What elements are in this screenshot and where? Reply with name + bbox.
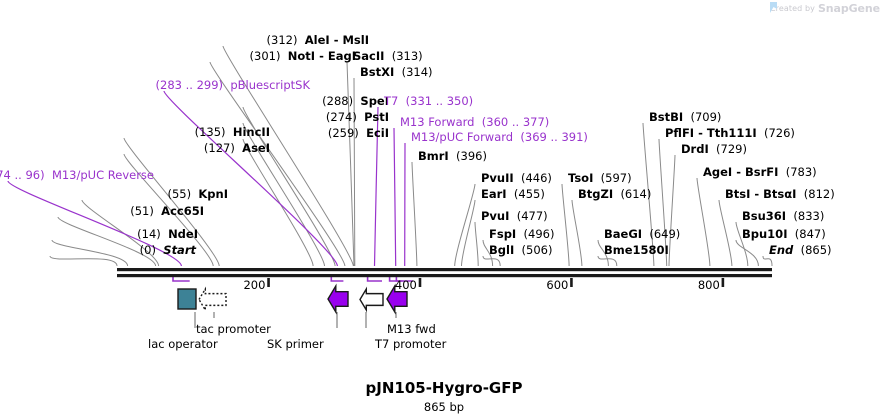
- enzyme-label-sacii: SacII (313): [353, 50, 423, 63]
- label-name: BtsI - BtsαI: [725, 187, 796, 201]
- label-position: (506): [522, 243, 553, 257]
- feature-glyph-lac-operator: [178, 289, 196, 309]
- feature-glyph-sk-primer: [328, 286, 348, 312]
- enzyme-leader-line: [455, 184, 475, 266]
- label-name: BglI: [489, 243, 514, 257]
- ruler-tick-label: 400: [392, 278, 417, 292]
- feature-label-t7: T7 (331 .. 350): [384, 95, 473, 108]
- label-name: EarI: [481, 187, 507, 201]
- label-position: (288): [322, 94, 353, 108]
- label-position: (312): [267, 33, 298, 47]
- label-position: (726): [764, 126, 795, 140]
- label-name: BaeGI: [604, 227, 642, 241]
- enzyme-label-bstbi: BstBI (709): [649, 111, 721, 124]
- enzyme-label-asei: (127) AseI: [204, 142, 270, 155]
- map-subtitle: 865 bp: [0, 400, 888, 414]
- ruler-tick-label: 200: [240, 278, 265, 292]
- label-position: (597): [601, 171, 632, 185]
- label-position: (301): [250, 49, 281, 63]
- label-name: Bpu10I: [742, 227, 787, 241]
- enzyme-label-baegi: BaeGI (649): [604, 228, 680, 241]
- enzyme-label-bmri: BmrI (396): [418, 150, 487, 163]
- enzyme-label-noti-eagi: (301) NotI - EagI: [250, 50, 356, 63]
- enzyme-leader-line: [52, 240, 128, 266]
- enzyme-label-pvuii: PvuII (446): [481, 172, 552, 185]
- enzyme-label-ecii: (259) EciI: [328, 127, 389, 140]
- feature-caption-tac-promoter: tac promoter: [196, 322, 271, 336]
- label-position: (783): [786, 165, 817, 179]
- enzyme-leader-line: [669, 155, 675, 266]
- enzyme-label-btsi-bts-i: BtsI - BtsαI (812): [725, 188, 835, 201]
- enzyme-leader-line: [347, 62, 354, 266]
- label-name: EciI: [366, 126, 389, 140]
- label-name: Start: [163, 243, 196, 257]
- enzyme-label-start: (0) Start: [140, 244, 196, 257]
- enzyme-label-drdi: DrdI (729): [681, 143, 747, 156]
- map-title: pJN105-Hygro-GFP: [0, 379, 888, 397]
- label-position: (74 .. 96): [0, 168, 45, 182]
- enzyme-label-bgli: BglI (506): [489, 244, 552, 257]
- feature-caption-m13-fwd: M13 fwd: [387, 322, 436, 336]
- label-position: (833): [793, 209, 824, 223]
- enzyme-label-eari: EarI (455): [481, 188, 545, 201]
- label-name: T7: [384, 94, 398, 108]
- label-name: SacII: [353, 49, 384, 63]
- enzyme-leader-line: [50, 256, 117, 266]
- enzyme-label-bstxi: BstXI (314): [360, 66, 433, 79]
- enzyme-label-psti: (274) PstI: [326, 111, 389, 124]
- feature-label-pbluescriptsk: (283 .. 299) pBluescriptSK: [156, 79, 310, 92]
- ruler-tick-label: 600: [543, 278, 568, 292]
- feature-label-m13-forward: M13 Forward (360 .. 377): [400, 116, 549, 129]
- label-position: (274): [326, 110, 357, 124]
- label-name: Bme1580I: [604, 243, 669, 257]
- dna-strand-bottom: [117, 274, 772, 277]
- label-position: (259): [328, 126, 359, 140]
- label-name: DrdI: [681, 142, 709, 156]
- enzyme-label-agei-bsrfi: AgeI - BsrFI (783): [703, 166, 817, 179]
- enzyme-leader-line: [763, 256, 772, 266]
- enzyme-leader-line: [572, 200, 582, 266]
- label-name: pBluescriptSK: [230, 78, 310, 92]
- label-name: BmrI: [418, 149, 449, 163]
- label-position: (0): [140, 243, 156, 257]
- enzyme-label-end: End (865): [769, 244, 832, 257]
- label-name: Acc65I: [161, 204, 204, 218]
- enzyme-leader-line: [210, 62, 345, 266]
- enzyme-label-fspi: FspI (496): [489, 228, 554, 241]
- enzyme-label-acc65i: (51) Acc65I: [130, 205, 204, 218]
- label-name: TsoI: [568, 171, 593, 185]
- label-name: BtgZI: [578, 187, 613, 201]
- ruler-tick: [722, 278, 725, 287]
- label-position: (455): [514, 187, 545, 201]
- ruler-tick: [267, 278, 270, 287]
- label-name: PstI: [364, 110, 389, 124]
- label-name: NotI - EagI: [288, 49, 356, 63]
- enzyme-label-bpu10i: Bpu10I (847): [742, 228, 826, 241]
- label-position: (496): [524, 227, 555, 241]
- label-position: (51): [130, 204, 154, 218]
- ruler-tick: [419, 278, 422, 287]
- label-position: (396): [456, 149, 487, 163]
- label-name: End: [769, 243, 793, 257]
- enzyme-label-btgzi: BtgZI (614): [578, 188, 651, 201]
- label-position: (360 .. 377): [482, 115, 550, 129]
- enzyme-label-bme1580i: Bme1580I: [604, 244, 669, 257]
- enzyme-leader-line: [719, 200, 732, 266]
- label-position: (314): [402, 65, 433, 79]
- enzyme-label-alei-msli: (312) AleI - MslI: [267, 34, 369, 47]
- label-position: (649): [649, 227, 680, 241]
- dna-strand-top: [117, 268, 772, 271]
- label-position: (127): [204, 141, 235, 155]
- label-position: (709): [690, 110, 721, 124]
- label-position: (369 .. 391): [520, 130, 588, 144]
- label-name: FspI: [489, 227, 516, 241]
- label-position: (729): [716, 142, 747, 156]
- label-name: BstBI: [649, 110, 683, 124]
- label-position: (865): [801, 243, 832, 257]
- label-name: AleI - MslI: [305, 33, 369, 47]
- enzyme-leader-line: [412, 162, 417, 266]
- label-position: (847): [795, 227, 826, 241]
- label-name: AseI: [242, 141, 270, 155]
- enzyme-label-bsu36i: Bsu36I (833): [742, 210, 824, 223]
- ruler-tick-label: 800: [695, 278, 720, 292]
- label-position: (135): [195, 125, 226, 139]
- enzyme-label-pflfi-tth111i: PflFI - Tth111I (726): [665, 127, 795, 140]
- enzyme-leader-line: [697, 178, 710, 266]
- label-name: KpnI: [198, 187, 228, 201]
- enzyme-label-kpni: (55) KpnI: [167, 188, 228, 201]
- feature-caption-lac-operator: lac operator: [148, 337, 218, 351]
- feature-caption-sk-primer: SK primer: [267, 337, 324, 351]
- plasmid-map-canvas: Created by SnapGene (312) AleI - MslI(30…: [0, 0, 888, 419]
- enzyme-leader-line: [562, 184, 569, 266]
- label-position: (477): [517, 209, 548, 223]
- label-name: PvuII: [481, 171, 514, 185]
- label-name: Bsu36I: [742, 209, 786, 223]
- label-position: (812): [804, 187, 835, 201]
- label-position: (55): [167, 187, 191, 201]
- feature-label-m13-puc-reverse: (74 .. 96) M13/pUC Reverse: [0, 169, 154, 182]
- label-position: (614): [620, 187, 651, 201]
- label-position: (283 .. 299): [156, 78, 224, 92]
- enzyme-label-spei: (288) SpeI: [322, 95, 389, 108]
- label-position: (313): [392, 49, 423, 63]
- enzyme-label-pvui: PvuI (477): [481, 210, 548, 223]
- label-name: AgeI - BsrFI: [703, 165, 778, 179]
- label-name: M13 Forward: [400, 115, 474, 129]
- feature-label-m13-puc-forward: M13/pUC Forward (369 .. 391): [411, 131, 588, 144]
- label-name: M13/pUC Reverse: [52, 168, 154, 182]
- ruler-tick: [570, 278, 573, 287]
- enzyme-label-ndei: (14) NdeI: [137, 228, 198, 241]
- label-name: NdeI: [168, 227, 198, 241]
- label-name: M13/pUC Forward: [411, 130, 513, 144]
- feature-glyph-tac-promoter: [199, 289, 226, 310]
- enzyme-label-hincii: (135) HincII: [195, 126, 270, 139]
- label-name: BstXI: [360, 65, 394, 79]
- label-name: PvuI: [481, 209, 509, 223]
- label-name: PflFI - Tth111I: [665, 126, 757, 140]
- label-position: (331 .. 350): [406, 94, 474, 108]
- feature-caption-t7-promoter: T7 promoter: [375, 337, 446, 351]
- feature-glyph-t7-promoter: [360, 289, 383, 310]
- label-position: (14): [137, 227, 161, 241]
- enzyme-leader-line: [475, 222, 478, 266]
- feature-leader-line: [394, 128, 396, 266]
- enzyme-label-tsoi: TsoI (597): [568, 172, 632, 185]
- label-position: (446): [521, 171, 552, 185]
- label-name: HincII: [233, 125, 270, 139]
